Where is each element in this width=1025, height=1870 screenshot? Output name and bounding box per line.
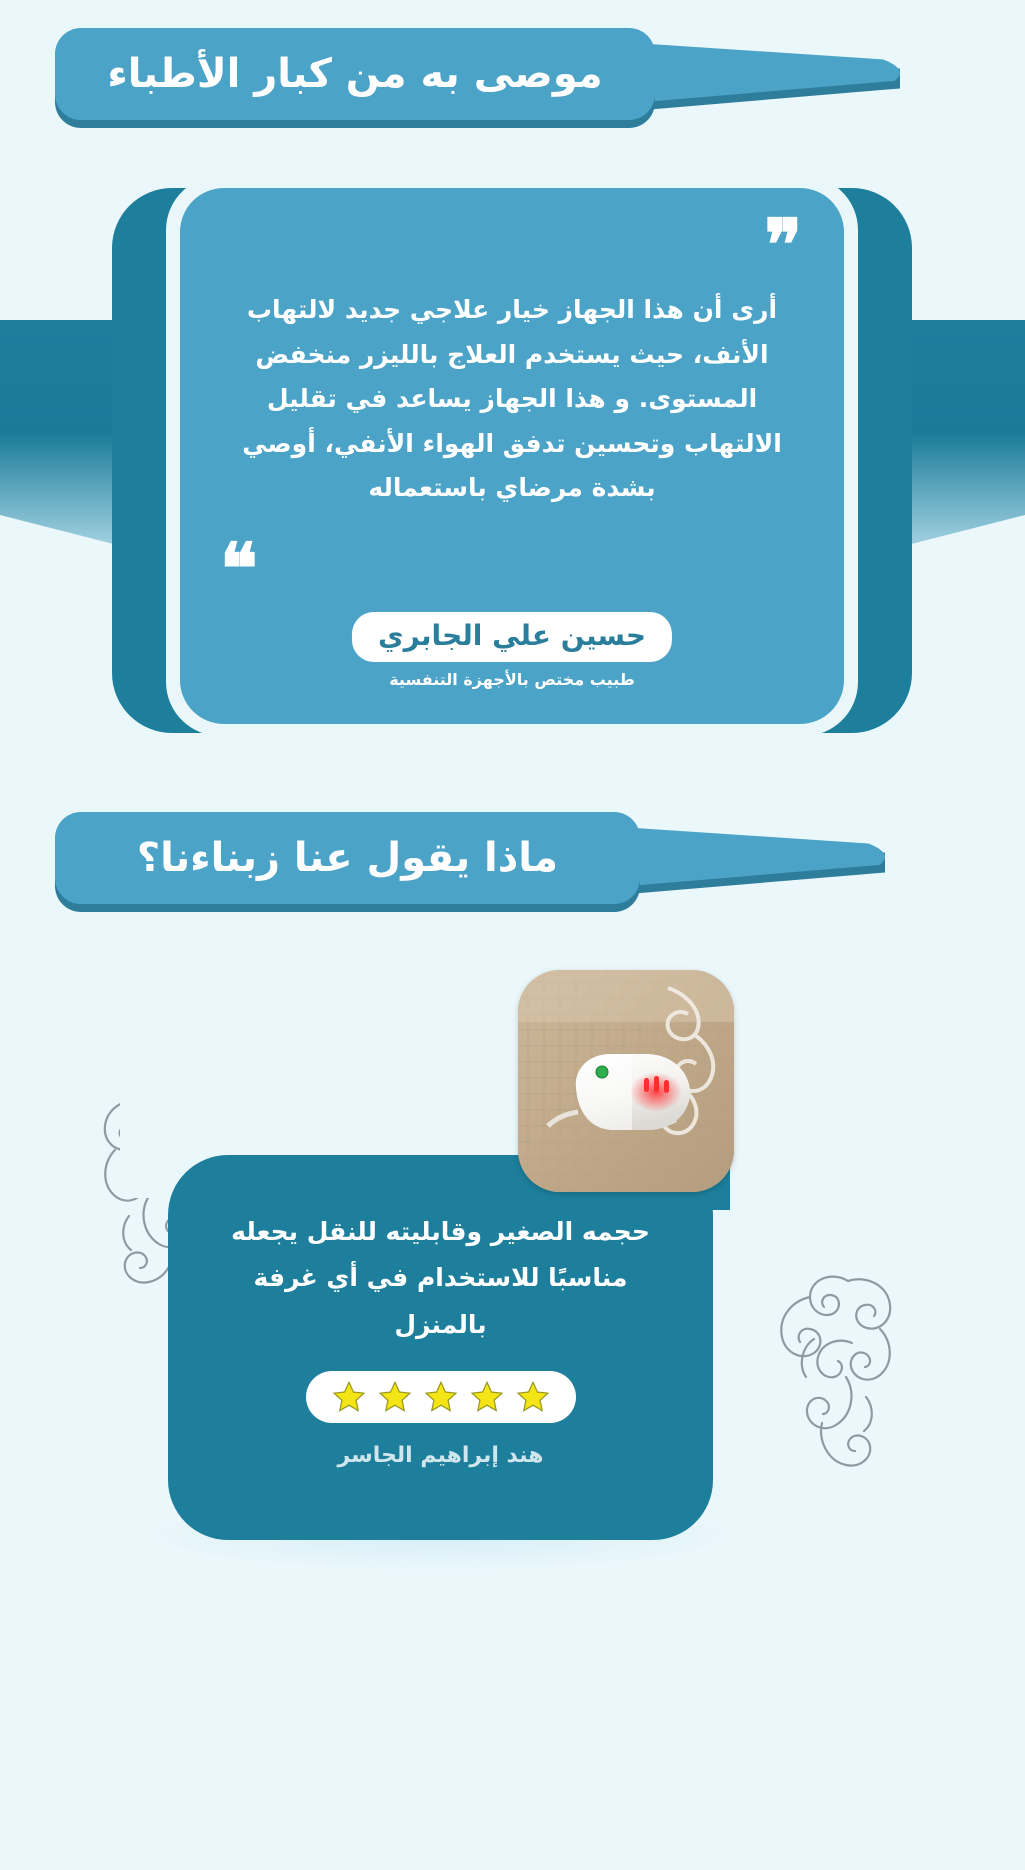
quote-close-icon: ❝	[220, 548, 258, 590]
quote-open-icon: ❞	[764, 224, 802, 266]
banner-plate: ماذا يقول عنا زبناءنا؟	[55, 812, 640, 904]
doctor-name-badge: حسين علي الجابري	[352, 612, 672, 662]
banner-plate: موصى به من كبار الأطباء	[55, 28, 655, 120]
customer-card: حجمه الصغير وقابليته للنقل يجعله مناسبًا…	[168, 1155, 713, 1540]
star-icon	[378, 1380, 412, 1414]
banner-bottom-label: ماذا يقول عنا زبناءنا؟	[137, 835, 558, 881]
doctor-card: ❞ ❝ أرى أن هذا الجهاز خيار علاجي جديد لا…	[180, 188, 844, 724]
star-icon	[332, 1380, 366, 1414]
star-icon	[424, 1380, 458, 1414]
customer-quote-text: حجمه الصغير وقابليته للنقل يجعله مناسبًا…	[216, 1209, 665, 1348]
star-icon	[516, 1380, 550, 1414]
banner-top-label: موصى به من كبار الأطباء	[107, 51, 602, 97]
product-photo-thumbnail[interactable]	[518, 970, 734, 1192]
doctor-testimonial-section: ❞ ❝ أرى أن هذا الجهاز خيار علاجي جديد لا…	[0, 170, 1025, 780]
customer-name-label: هند إبراهيم الجاسر	[168, 1443, 713, 1468]
filigree-swirl-icon	[760, 1265, 910, 1495]
doctor-role-label: طبيب مختص بالأجهزة التنفسية	[180, 670, 844, 689]
rating-stars	[306, 1371, 576, 1423]
doctor-quote-text: أرى أن هذا الجهاز خيار علاجي جديد لالتها…	[236, 288, 788, 511]
banner-recommended-by-doctors: موصى به من كبار الأطباء	[55, 28, 655, 120]
page-canvas: موصى به من كبار الأطباء ❞ ❝ أرى أن هذا ا…	[0, 0, 1025, 1870]
star-icon	[470, 1380, 504, 1414]
banner-customer-reviews: ماذا يقول عنا زبناءنا؟	[55, 812, 640, 904]
